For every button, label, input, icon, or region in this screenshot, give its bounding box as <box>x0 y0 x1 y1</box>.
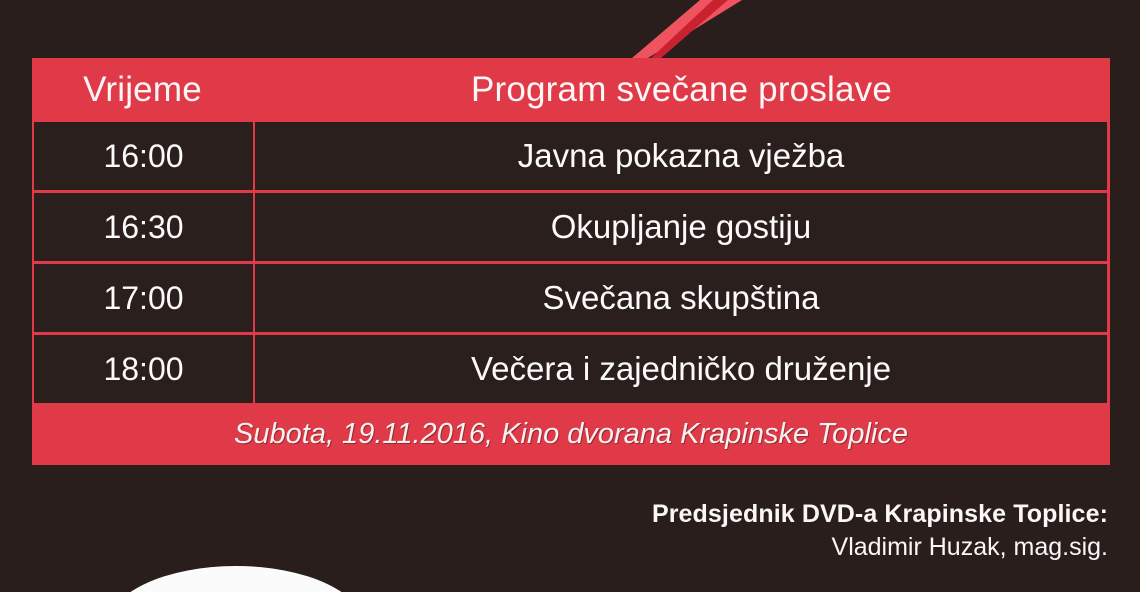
cell-time: 16:00 <box>34 122 255 190</box>
column-header-program: Program svečane proslave <box>253 58 1110 122</box>
column-header-time: Vrijeme <box>32 58 253 122</box>
schedule-header-row: Vrijeme Program svečane proslave <box>32 58 1110 122</box>
cell-program: Večera i zajedničko druženje <box>255 335 1107 403</box>
cell-time: 17:00 <box>34 264 255 332</box>
cell-time: 18:00 <box>34 335 255 403</box>
poster-canvas: Vrijeme Program svečane proslave 16:00 J… <box>0 0 1140 592</box>
cell-time: 16:30 <box>34 193 255 261</box>
table-row: 16:30 Okupljanje gostiju <box>34 193 1107 264</box>
schedule-footer-bar: Subota, 19.11.2016, Kino dvorana Krapins… <box>32 403 1110 465</box>
event-datetime-venue: Subota, 19.11.2016, Kino dvorana Krapins… <box>234 418 908 451</box>
signature-name: Vladimir Huzak, mag.sig. <box>652 533 1108 562</box>
signature-block: Predsjednik DVD-a Krapinske Toplice: Vla… <box>652 500 1108 562</box>
cell-program: Javna pokazna vježba <box>255 122 1107 190</box>
table-row: 17:00 Svečana skupština <box>34 264 1107 335</box>
swoosh-stroke-dark <box>651 0 728 58</box>
schedule-table: Vrijeme Program svečane proslave 16:00 J… <box>32 58 1110 465</box>
table-row: 16:00 Javna pokazna vježba <box>34 122 1107 193</box>
schedule-body: 16:00 Javna pokazna vježba 16:30 Okuplja… <box>32 122 1110 403</box>
cell-program: Svečana skupština <box>255 264 1107 332</box>
bottom-arc-decoration <box>108 566 364 592</box>
cell-program: Okupljanje gostiju <box>255 193 1107 261</box>
swoosh-stroke-light <box>632 0 742 58</box>
table-row: 18:00 Večera i zajedničko druženje <box>34 335 1107 403</box>
signature-role: Predsjednik DVD-a Krapinske Toplice: <box>652 500 1108 529</box>
